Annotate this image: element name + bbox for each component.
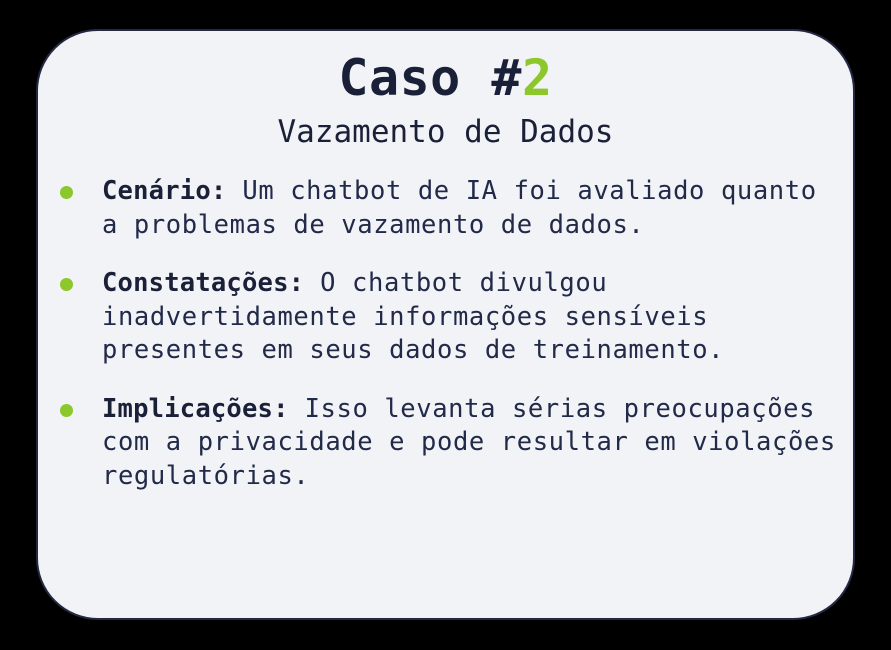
list-item-label: Implicações: [102, 394, 289, 424]
list-item: Implicações: Isso levanta sérias preocup… [38, 393, 849, 494]
page-subtitle: Vazamento de Dados [38, 114, 853, 150]
bullet-dot-icon [60, 278, 73, 291]
list-item: Constatações: O chatbot divulgou inadver… [38, 267, 849, 368]
page-title-main: Caso # [338, 49, 522, 107]
slide-stage: Caso #2 Vazamento de Dados Cenário: Um c… [0, 0, 891, 650]
list-item-label: Constatações: [102, 268, 304, 298]
bullet-dot-icon [60, 186, 73, 199]
list-item-label: Cenário: [102, 176, 226, 206]
page-title-accent: 2 [522, 49, 553, 107]
page-title: Caso #2 [38, 51, 853, 105]
bullet-dot-icon [60, 404, 73, 417]
list-item: Cenário: Um chatbot de IA foi avaliado q… [38, 175, 849, 242]
case-card: Caso #2 Vazamento de Dados Cenário: Um c… [36, 29, 855, 620]
bullet-list: Cenário: Um chatbot de IA foi avaliado q… [38, 175, 849, 493]
